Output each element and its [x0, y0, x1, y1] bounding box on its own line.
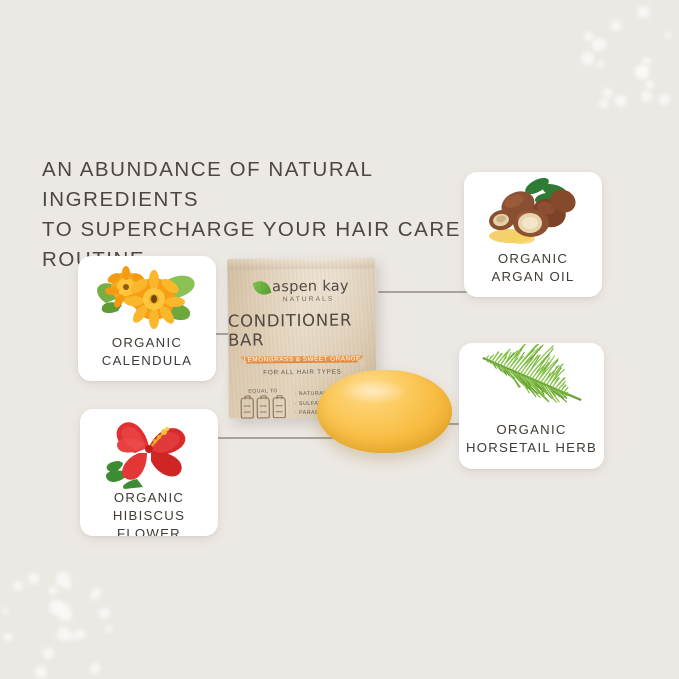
calendula-flower-icon [78, 256, 216, 334]
equal-to-label: EQUAL TO [248, 388, 277, 394]
ingredient-card-argan-oil[interactable]: ORGANIC ARGAN OIL [464, 172, 602, 297]
product-title: CONDITIONER BAR [228, 310, 376, 350]
bottle-icons [241, 397, 286, 418]
hibiscus-flower-icon [80, 409, 218, 489]
ingredient-label: ORGANIC ARGAN OIL [491, 250, 574, 296]
brand-subtitle: NATURALS [283, 296, 335, 304]
ingredient-label: ORGANIC HIBISCUS FLOWER [80, 489, 218, 536]
scent-label: LEMONGRASS & SWEET ORANGE [244, 355, 361, 363]
ingredient-card-calendula[interactable]: ORGANIC CALENDULA [78, 256, 216, 381]
bottle-icon [241, 398, 254, 419]
decorative-dots-bottom-left [0, 569, 120, 679]
conditioner-bar-product [317, 370, 452, 453]
ingredient-label: ORGANIC CALENDULA [102, 334, 192, 380]
decorative-dots-top-right [569, 0, 679, 115]
bottle-icon [273, 397, 286, 418]
ingredient-label: ORGANIC HORSETAIL HERB [466, 421, 597, 467]
brand-name: aspen kay [272, 279, 349, 296]
argan-nuts-icon [464, 172, 602, 250]
brand-lockup: aspen kay [254, 279, 349, 296]
infographic-canvas: AN ABUNDANCE OF NATURAL INGREDIENTS TO S… [0, 0, 679, 679]
connector-argan [378, 291, 478, 293]
connector-hibiscus [203, 437, 338, 439]
scent-ribbon: LEMONGRASS & SWEET ORANGE [240, 355, 364, 363]
ingredient-card-horsetail[interactable]: ORGANIC HORSETAIL HERB [459, 343, 604, 469]
hair-types-label: FOR ALL HAIR TYPES [263, 369, 341, 377]
ingredient-card-hibiscus[interactable]: ORGANIC HIBISCUS FLOWER [80, 409, 218, 536]
leaf-icon [252, 278, 271, 297]
horsetail-herb-icon [459, 343, 604, 421]
bottle-icon [257, 397, 270, 418]
equal-to-group: EQUAL TO [241, 388, 286, 418]
